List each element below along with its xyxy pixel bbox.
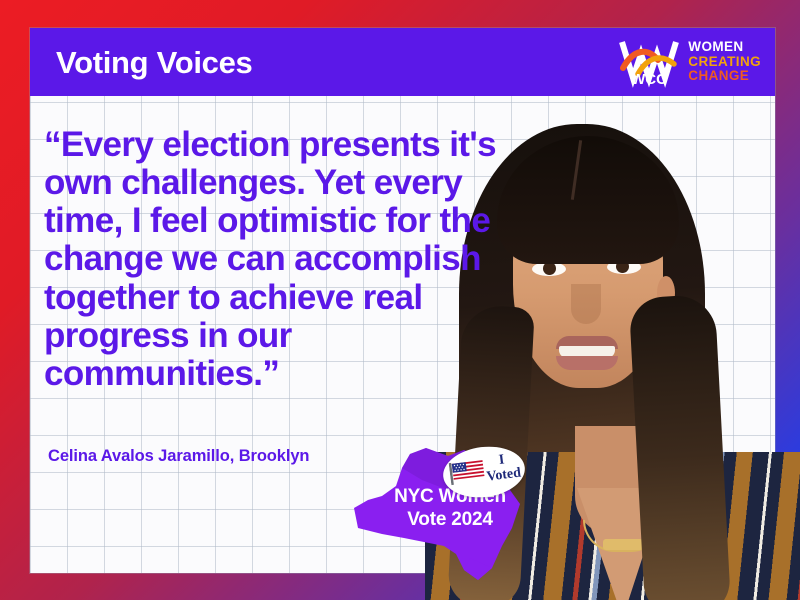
hair-strand-right (629, 294, 732, 600)
i-voted-text: I Voted (484, 452, 521, 485)
quote-text: “Every election presents it's own challe… (44, 126, 496, 393)
logo-line-women: WOMEN (688, 40, 761, 55)
quote-attribution: Celina Avalos Jaramillo, Brooklyn (48, 447, 309, 466)
us-flag-icon (449, 458, 486, 486)
logo-line-creating: CREATING (688, 55, 761, 70)
lower-lip (556, 356, 618, 370)
logo-line-change: CHANGE (688, 69, 761, 84)
wcc-logomark-icon: WCC (618, 34, 680, 90)
necklace-pendant (603, 539, 643, 550)
wcc-logo-wordmark: WOMEN CREATING CHANGE (688, 40, 761, 84)
svg-text:WCC: WCC (631, 71, 667, 88)
page-title: Voting Voices (56, 47, 252, 78)
wcc-logo[interactable]: WCC WOMEN CREATING CHANGE (618, 32, 761, 92)
poster-canvas: Voting Voices WCC WOMEN CREATING CHANGE … (0, 0, 800, 600)
badge-text: NYC Women Vote 2024 (370, 486, 530, 532)
sticker-line-2: Voted (486, 466, 522, 485)
badge-line-2: Vote 2024 (370, 509, 530, 532)
header-bar: Voting Voices WCC WOMEN CREATING CHANGE (30, 28, 775, 96)
nose-shape (571, 284, 601, 324)
